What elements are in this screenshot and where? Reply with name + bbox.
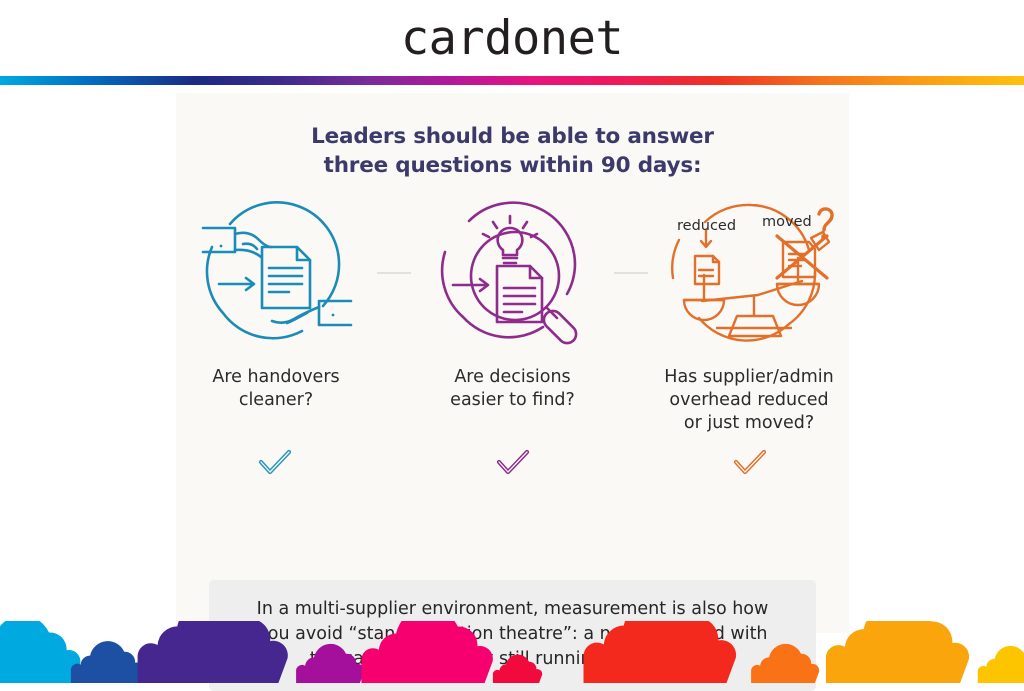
checkmark-cell-2 [413,449,612,477]
brand-rainbow-divider [0,76,1024,85]
column-overhead: reduced moved Has supplier/admin overhea… [649,198,849,435]
page-header: cardonet [0,0,1024,76]
caption-line: easier to find? [413,389,613,412]
caption-line: cleaner? [176,389,376,412]
page-title-line-2: three questions within 90 days: [176,152,849,181]
icon-row: Are handovers cleaner? [176,198,849,435]
caption-line: Are decisions [413,366,613,389]
cloud-blue [71,641,144,683]
balance-scale-reduced-moved-icon: reduced moved [659,198,839,348]
caption-line: Are handovers [176,366,376,389]
cloud-orange [751,644,819,683]
page-title: Leaders should be able to answer three q… [176,123,849,180]
cloud-red-shape [583,621,736,683]
column-decisions: Are decisions easier to find? [413,198,613,412]
cardonet-logo: cardonet [401,11,623,66]
column-caption-overhead: Has supplier/admin overhead reduced or j… [649,366,849,435]
checkmark-row [176,449,849,477]
content-card: Leaders should be able to answer three q… [176,93,849,633]
column-caption-decisions: Are decisions easier to find? [413,366,613,412]
caption-line: Has supplier/admin [649,366,849,389]
slide-canvas: Leaders should be able to answer three q… [0,85,1024,683]
cloud-pink [361,621,492,683]
cloud-red [583,621,736,683]
checkmark-cell-1 [176,449,375,477]
caption-line: or just moved? [649,412,849,435]
scale-label-reduced: reduced [677,218,736,234]
cloud-decoration-strip [0,621,1024,683]
cloud-blue-shape [71,641,144,683]
checkmark-icon-orange [733,449,767,477]
cloud-magenta [296,644,364,683]
cloud-orange-shape [751,644,819,683]
cloud-amber [826,621,969,683]
cloud-pink-shape [361,621,492,683]
column-handovers: Are handovers cleaner? [176,198,376,412]
magnifier-document-lightbulb-icon [425,198,600,348]
checkmark-icon-cyan [258,449,292,477]
cloud-crimson [493,655,542,683]
cloud-cyan-shape [0,621,80,683]
cloud-purple-shape [138,621,288,683]
cloud-yellow-shape [978,646,1024,683]
page-title-line-1: Leaders should be able to answer [176,123,849,152]
connector-line-1 [376,198,413,348]
handover-document-exchange-icon [189,198,364,348]
cloud-purple [138,621,288,683]
cloud-magenta-shape [296,644,364,683]
scale-label-moved: moved [762,214,812,230]
caption-line: overhead reduced [649,389,849,412]
footnote-line-1: In a multi-supplier environment, measure… [233,597,792,622]
cloud-yellow [978,646,1024,683]
cloud-cyan [0,621,80,683]
cloud-crimson-shape [493,655,542,683]
cloud-amber-shape [826,621,969,683]
column-caption-handovers: Are handovers cleaner? [176,366,376,412]
checkmark-cell-3 [650,449,849,477]
connector-line-2 [613,198,650,348]
checkmark-icon-purple [496,449,530,477]
